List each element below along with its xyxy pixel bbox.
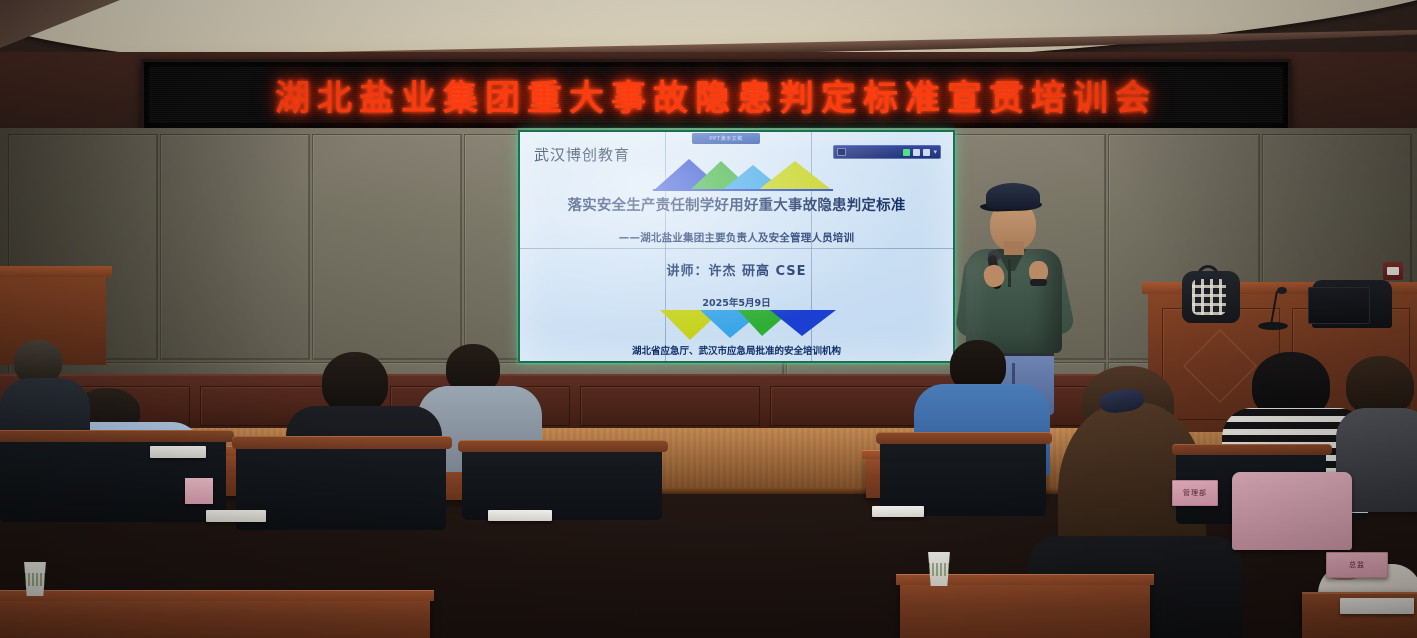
mountain-graphic-top (653, 155, 833, 191)
led-banner-screen: 湖北盐业集团重大事故隐患判定标准宣贯培训会 (149, 67, 1283, 123)
left-podium-top (0, 266, 112, 277)
desk-top (0, 590, 434, 601)
pink-folder (185, 478, 213, 504)
name-card: 总监 (1326, 552, 1388, 578)
mountain-graphic-bottom (660, 310, 840, 340)
microphone-base (1258, 322, 1288, 330)
chair-back (236, 444, 446, 530)
slide-lecturer: 讲师：许杰 研高 CSE (520, 260, 953, 279)
backpack-plaid-pattern (1192, 279, 1226, 315)
chair-crest-rail (0, 430, 234, 442)
cup-pattern (24, 573, 46, 586)
notebook (488, 510, 552, 521)
menu-icon[interactable] (923, 149, 930, 156)
chair-crest-rail (458, 440, 668, 452)
slide-toolbar[interactable]: ▾ (833, 145, 941, 159)
gooseneck-microphone-head (1277, 287, 1287, 294)
foreground-desk-left (0, 596, 430, 638)
foreground-desk-right (900, 580, 1150, 638)
name-card: 管理部 (1172, 480, 1218, 506)
fire-alarm-icon (1383, 262, 1403, 280)
chair-crest-rail (1172, 444, 1332, 455)
notebook (1340, 598, 1414, 614)
attendee-head (1346, 356, 1414, 416)
presenter-view-icon[interactable] (837, 148, 846, 156)
led-banner-text: 湖北盐业集团重大事故隐患判定标准宣贯培训会 (275, 70, 1157, 121)
dais-monitor (1308, 287, 1370, 324)
notebook (150, 446, 206, 458)
notebook (206, 510, 266, 522)
slide-footer: 湖北省应急厅、武汉市应急局批准的安全培训机构 (520, 343, 953, 357)
slide-brand: 武汉博创教育 (534, 144, 630, 165)
chevron-down-icon[interactable]: ▾ (933, 149, 937, 156)
cup-pattern (928, 563, 950, 576)
slide-tab: PPT演示文稿 (692, 133, 760, 144)
chair-back (880, 440, 1046, 516)
wristwatch (1030, 279, 1047, 286)
conference-room-photo: 湖北盐业集团重大事故隐患判定标准宣贯培训会 (0, 0, 1417, 638)
attendee-head (322, 352, 388, 414)
slide-date: 2025年5月9日 (520, 295, 953, 309)
grid-icon[interactable] (913, 149, 920, 156)
status-dot-icon (903, 149, 910, 156)
led-video-wall: PPT演示文稿 ▾ 武汉博创教育 落实安全生产责任制学好用好重大事故隐患判定标准… (518, 130, 955, 363)
led-banner: 湖北盐业集团重大事故隐患判定标准宣贯培训会 (141, 59, 1291, 131)
pink-cushion-chair (1232, 472, 1352, 550)
notebook (872, 506, 924, 517)
chair-crest-rail (876, 432, 1052, 444)
slide-subtitle: ——湖北盐业集团主要负责人及安全管理人员培训 (520, 230, 953, 245)
slide-title: 落实安全生产责任制学好用好重大事故隐患判定标准 (520, 194, 953, 215)
chair-crest-rail (232, 436, 452, 449)
presenter-cap (986, 183, 1040, 209)
wainscot-panel (580, 386, 760, 426)
